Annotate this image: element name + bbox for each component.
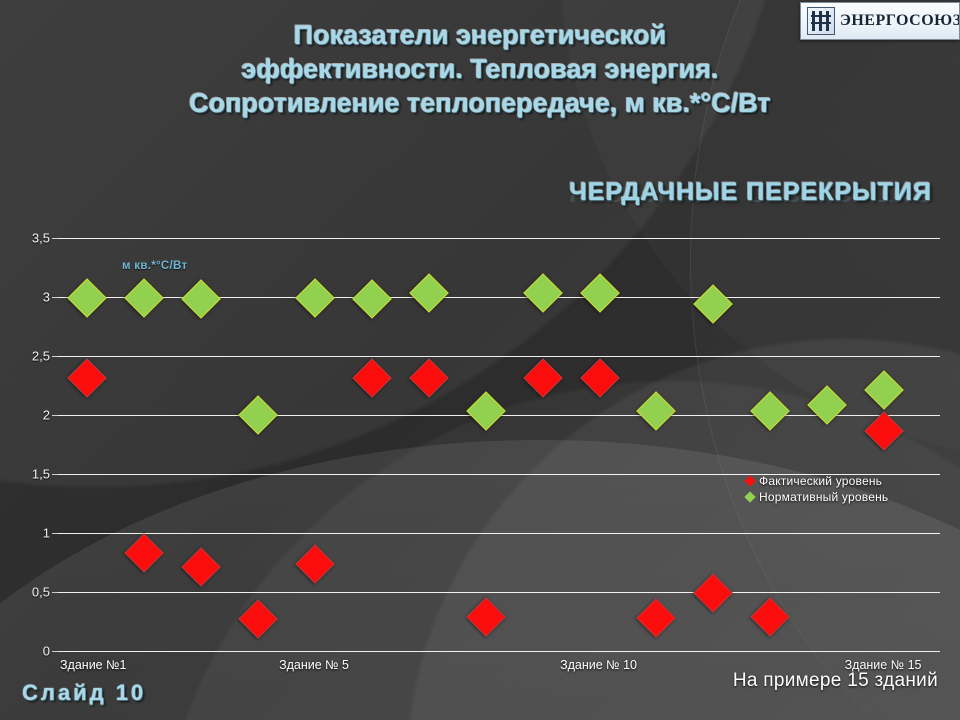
y-axis-tick-label: 0,5 <box>32 585 50 600</box>
x-axis-tick-label: Здание № 5 <box>279 658 349 672</box>
legend-item: Фактический уровень <box>744 474 888 488</box>
y-axis-tick-mark <box>52 651 58 652</box>
data-point-marker <box>580 273 620 313</box>
chart-legend: Фактический уровеньНормативный уровень <box>744 474 888 504</box>
y-axis-tick-mark <box>52 533 58 534</box>
y-axis-tick-mark <box>52 297 58 298</box>
data-point-marker <box>864 412 904 452</box>
y-axis-tick-label: 1,5 <box>32 467 50 482</box>
y-axis-tick-mark <box>52 415 58 416</box>
y-axis-tick-label: 0 <box>43 644 50 659</box>
gridline <box>58 592 940 593</box>
y-axis-tick-mark <box>52 592 58 593</box>
data-point-marker <box>125 533 165 573</box>
gridline <box>58 533 940 534</box>
data-point-marker <box>352 279 392 319</box>
data-point-marker <box>181 279 221 319</box>
legend-item: Нормативный уровень <box>744 490 888 504</box>
title-line-3: Сопротивление теплопередаче, м кв.*°С/Вт <box>0 86 960 120</box>
y-axis-tick-label: 3 <box>43 290 50 305</box>
gridline <box>58 651 940 652</box>
logo-label: ЭНЕРГОСОЮЗ <box>840 12 960 30</box>
data-point-marker <box>807 386 847 426</box>
y-axis-tick-mark <box>52 356 58 357</box>
y-axis: 00,511,522,533,5 <box>0 238 50 651</box>
data-point-marker <box>295 544 335 584</box>
data-point-marker <box>580 358 620 398</box>
legend-label: Фактический уровень <box>759 474 882 488</box>
footer-note: На примере 15 зданий <box>733 670 938 692</box>
data-point-marker <box>68 278 108 318</box>
x-axis-tick-label: Здание № 10 <box>560 658 637 672</box>
data-point-marker <box>68 358 108 398</box>
data-point-marker <box>409 358 449 398</box>
y-axis-tick-label: 1 <box>43 526 50 541</box>
y-axis-tick-label: 2 <box>43 408 50 423</box>
data-point-marker <box>409 273 449 313</box>
legend-swatch-icon <box>744 475 755 486</box>
data-point-marker <box>750 597 790 637</box>
data-point-marker <box>466 597 506 637</box>
legend-swatch-icon <box>744 491 755 502</box>
x-axis-tick-label: Здание №1 <box>60 658 126 672</box>
energosoyuz-emblem-icon <box>807 7 835 35</box>
scatter-chart: 00,511,522,533,5 м кв.*°С/Вт Здание №1Зд… <box>0 228 960 660</box>
gridline <box>58 356 940 357</box>
y-axis-tick-mark <box>52 238 58 239</box>
slide-canvas: ЭНЕРГОСОЮЗ Показатели энергетической эфф… <box>0 0 960 720</box>
plot-area: м кв.*°С/Вт <box>58 238 940 651</box>
data-point-marker <box>864 370 904 410</box>
data-point-marker <box>637 391 677 431</box>
y-axis-tick-label: 3,5 <box>32 231 50 246</box>
data-point-marker <box>523 358 563 398</box>
title-line-2: эффективности. Тепловая энергия. <box>0 52 960 86</box>
y-axis-unit-label: м кв.*°С/Вт <box>122 260 187 272</box>
data-point-marker <box>181 547 221 587</box>
data-point-marker <box>523 273 563 313</box>
data-point-marker <box>295 278 335 318</box>
company-logo: ЭНЕРГОСОЮЗ <box>800 2 960 40</box>
data-point-marker <box>466 391 506 431</box>
gridline <box>58 238 940 239</box>
legend-label: Нормативный уровень <box>759 490 888 504</box>
data-point-marker <box>637 598 677 638</box>
data-point-marker <box>125 278 165 318</box>
data-point-marker <box>238 395 278 435</box>
y-axis-tick-mark <box>52 474 58 475</box>
slide-number: Слайд 10 <box>22 680 146 706</box>
subtitle: ЧЕРДАЧНЫЕ ПЕРЕКРЫТИЯ <box>569 178 932 207</box>
data-point-marker <box>238 599 278 639</box>
y-axis-tick-label: 2,5 <box>32 349 50 364</box>
data-point-marker <box>352 358 392 398</box>
data-point-marker <box>694 573 734 613</box>
data-point-marker <box>694 284 734 324</box>
data-point-marker <box>750 391 790 431</box>
